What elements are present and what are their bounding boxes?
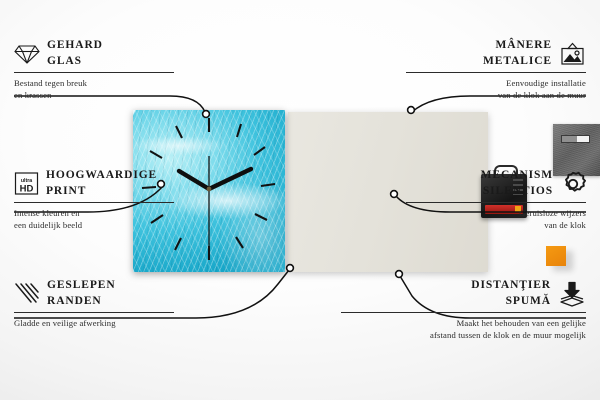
feature-header: MÂNERE METALICE: [406, 38, 586, 69]
feature-title-line1: HOOGWAARDIGE: [46, 168, 157, 184]
gear-icon: [560, 171, 586, 197]
feature-foam-spacer: DISTANŢIER SPUMĂ Maakt het behouden van …: [341, 278, 586, 342]
feature-divider: [14, 202, 174, 203]
feature-silent-mechanism: MECANISM SILENŢIOS Geruisloze wijzers va…: [406, 168, 586, 232]
feature-subtitle: Bestand tegen breuk en krassen: [14, 77, 174, 102]
feature-header: DISTANŢIER SPUMĂ: [341, 278, 586, 309]
feature-title: GEHARD GLAS: [47, 38, 103, 69]
feature-header: MECANISM SILENŢIOS: [406, 168, 586, 199]
feature-subtitle: Geruisloze wijzers van de klok: [406, 207, 586, 232]
feature-tempered-glass: GEHARD GLAS Bestand tegen breuk en krass…: [14, 38, 174, 102]
feature-polished-edges: GESLEPEN RANDEN Gladde en veilige afwerk…: [14, 278, 174, 329]
feature-subtitle-line1: Gladde en veilige afwerking: [14, 317, 174, 329]
feature-subtitle-line1: Eenvoudige installatie: [406, 77, 586, 89]
feature-subtitle-line1: Maakt het behouden van een gelijke: [341, 317, 586, 329]
feature-title: GESLEPEN RANDEN: [47, 278, 116, 309]
connector-dot-metal-handles: [408, 107, 415, 114]
feature-title: MECANISM SILENŢIOS: [481, 168, 553, 199]
feature-title-line2: SILENŢIOS: [481, 184, 553, 200]
feature-title: MÂNERE METALICE: [483, 38, 552, 69]
feature-divider: [406, 72, 586, 73]
feature-subtitle: Intense kleuren en een duidelijk beeld: [14, 207, 174, 232]
feature-subtitle-line2: en krassen: [14, 89, 174, 101]
feature-metal-handles: MÂNERE METALICE Eenvoudige installatie v…: [406, 38, 586, 102]
ultra-hd-icon: ultra HD: [14, 171, 39, 196]
feature-hd-print: ultra HD HOOGWAARDIGE PRINT Intense kleu…: [14, 168, 174, 232]
feature-subtitle: Maakt het behouden van een gelijke afsta…: [341, 317, 586, 342]
feature-subtitle-line1: Intense kleuren en: [14, 207, 174, 219]
feature-divider: [341, 312, 586, 313]
feature-title-line1: MECANISM: [481, 168, 553, 184]
connector-dot-silent-mechanism: [391, 191, 398, 198]
infographic-canvas: GEHARD GLAS Bestand tegen breuk en krass…: [0, 0, 600, 400]
feature-title-line2: METALICE: [483, 54, 552, 70]
feature-header: ultra HD HOOGWAARDIGE PRINT: [14, 168, 174, 199]
feature-title-line2: GLAS: [47, 54, 103, 70]
feature-subtitle-line2: een duidelijk beeld: [14, 219, 174, 231]
feature-divider: [406, 202, 586, 203]
feature-subtitle-line1: Bestand tegen breuk: [14, 77, 174, 89]
feature-divider: [14, 72, 174, 73]
diamond-icon: [14, 43, 40, 65]
feature-header: GEHARD GLAS: [14, 38, 174, 69]
feature-subtitle: Gladde en veilige afwerking: [14, 317, 174, 329]
svg-text:HD: HD: [20, 184, 34, 195]
feature-title-line2: RANDEN: [47, 294, 116, 310]
feature-title: HOOGWAARDIGE PRINT: [46, 168, 157, 199]
connector-dot-foam-spacer: [396, 271, 403, 278]
feature-subtitle-line1: Geruisloze wijzers: [406, 207, 586, 219]
diagonal-lines-icon: [14, 282, 40, 305]
arrow-down-layers-icon: [558, 281, 586, 307]
feature-subtitle: Eenvoudige installatie van de klok aan d…: [406, 77, 586, 102]
feature-subtitle-line2: van de klok aan de muur: [406, 89, 586, 101]
connector-dot-tempered-glass: [203, 111, 210, 118]
picture-hanger-icon: [559, 42, 586, 66]
feature-title-line1: MÂNERE: [483, 38, 552, 54]
feature-title-line1: DISTANŢIER: [471, 278, 551, 294]
feature-divider: [14, 312, 174, 313]
feature-title: DISTANŢIER SPUMĂ: [471, 278, 551, 309]
feature-title-line1: GESLEPEN: [47, 278, 116, 294]
feature-title-line2: PRINT: [46, 184, 157, 200]
feature-header: GESLEPEN RANDEN: [14, 278, 174, 309]
feature-subtitle-line2: van de klok: [406, 219, 586, 231]
feature-subtitle-line2: afstand tussen de klok en de muur mogeli…: [341, 329, 586, 341]
feature-title-line2: SPUMĂ: [471, 294, 551, 310]
connector-dot-polished-edges: [287, 265, 294, 272]
feature-title-line1: GEHARD: [47, 38, 103, 54]
